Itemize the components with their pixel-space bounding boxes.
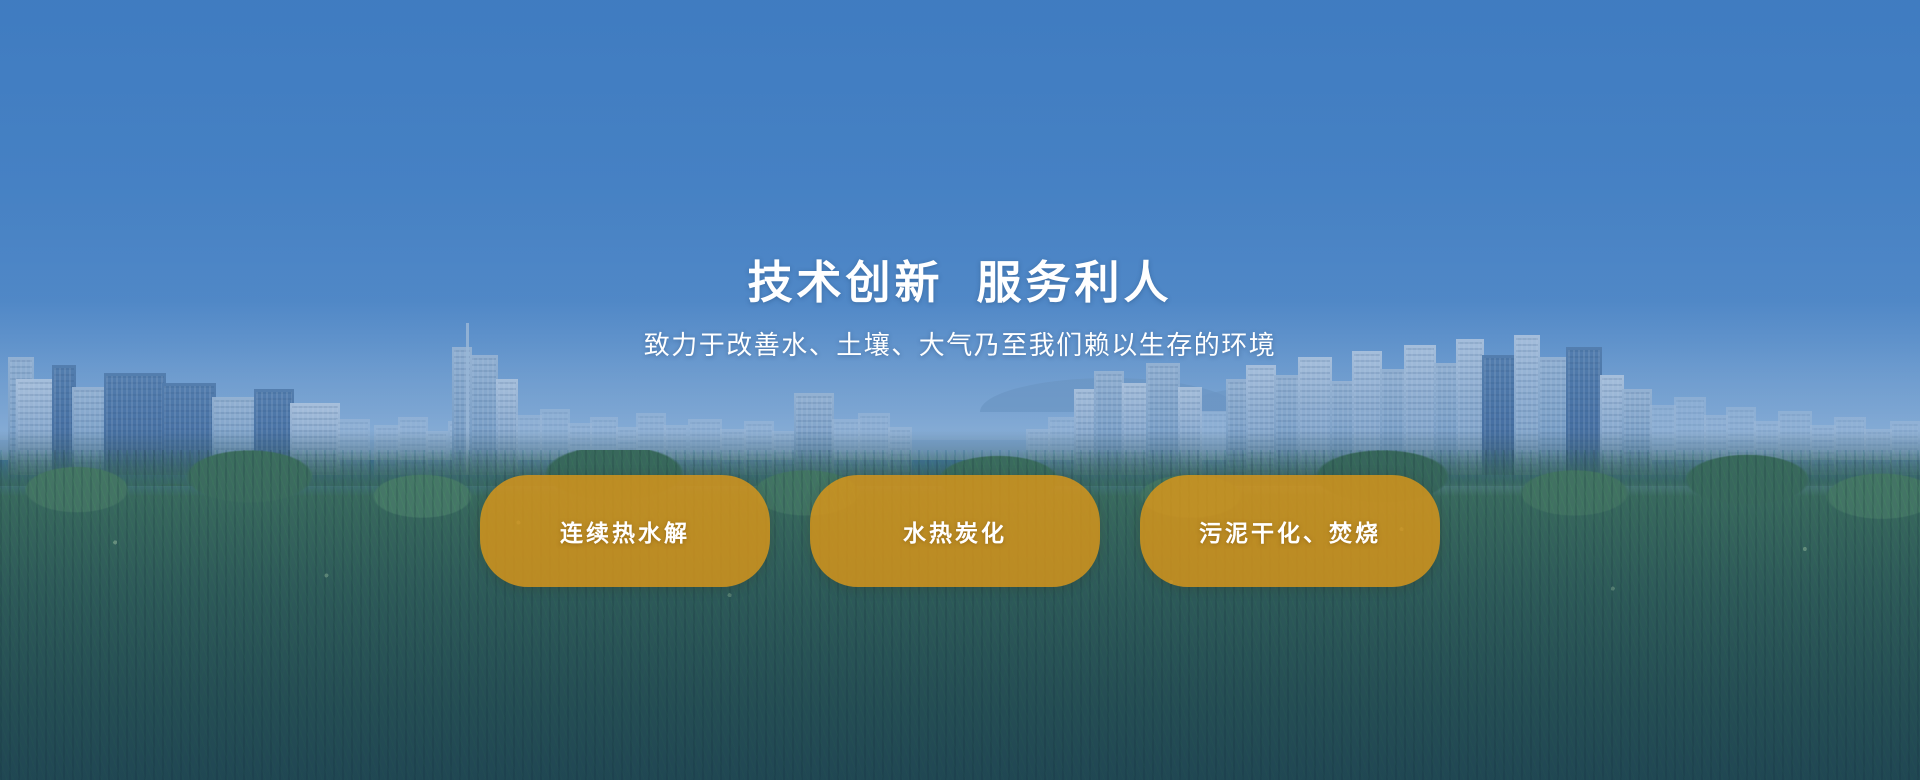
service-button-continuous-thermal-hydrolysis[interactable]: 连续热水解 (480, 475, 770, 587)
hero-banner: 技术创新 服务利人 致力于改善水、土壤、大气乃至我们赖以生存的环境 连续热水解 … (0, 0, 1920, 780)
service-button-row: 连续热水解 水热炭化 污泥干化、焚烧 (0, 475, 1920, 587)
page-title: 技术创新 服务利人 (747, 258, 1172, 308)
service-button-hydrothermal-carbonization[interactable]: 水热炭化 (810, 475, 1100, 587)
service-button-sludge-drying-incineration[interactable]: 污泥干化、焚烧 (1140, 475, 1440, 587)
page-subtitle: 致力于改善水、土壤、大气乃至我们赖以生存的环境 (644, 330, 1277, 361)
hero-content: 技术创新 服务利人 致力于改善水、土壤、大气乃至我们赖以生存的环境 (0, 0, 1920, 780)
